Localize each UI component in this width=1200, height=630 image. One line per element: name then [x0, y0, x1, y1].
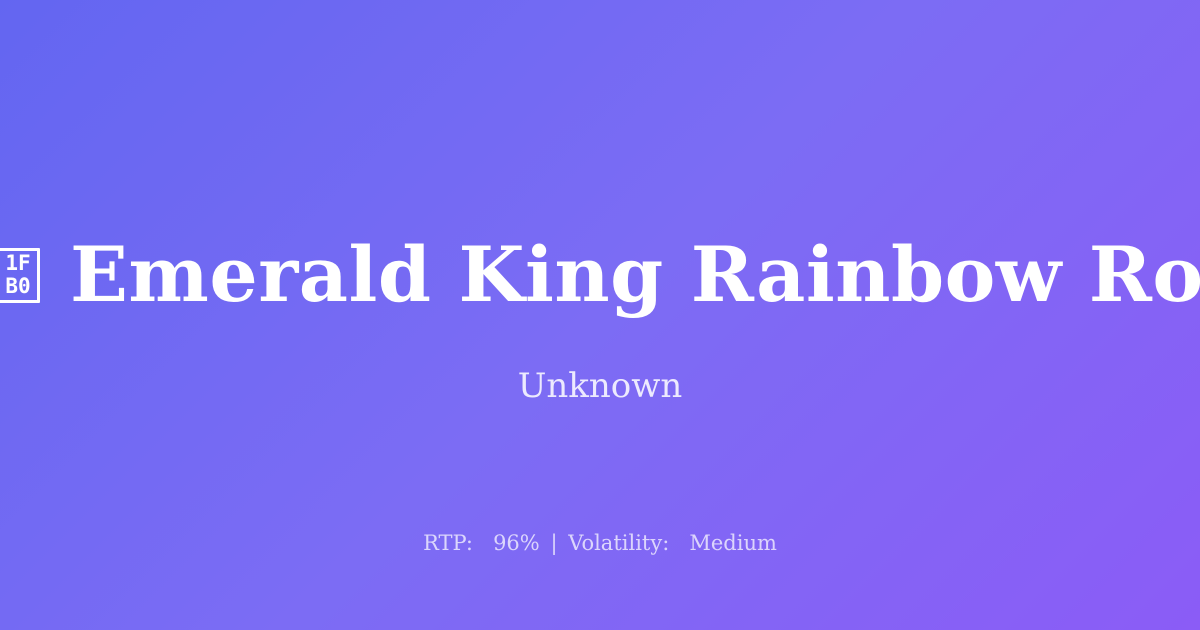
tofu-hex-top: 1F: [5, 252, 30, 275]
volatility-label: Volatility:: [568, 531, 669, 555]
page-title: Emerald King Rainbow Road: [70, 236, 1200, 314]
title-row: 1F B0 Emerald King Rainbow Road: [0, 236, 1200, 314]
missing-glyph-tofu-icon: 1F B0: [0, 248, 40, 303]
volatility-value: Medium: [689, 531, 777, 555]
tofu-hex-bottom: B0: [5, 275, 30, 298]
meta-line: RTP: 96% | Volatility: Medium: [0, 528, 1200, 558]
page-subtitle: Unknown: [0, 364, 1200, 408]
rtp-value: 96%: [493, 531, 540, 555]
og-share-card: 1F B0 Emerald King Rainbow Road Unknown …: [0, 0, 1200, 630]
meta-separator: |: [546, 531, 561, 555]
rtp-label: RTP:: [423, 531, 473, 555]
